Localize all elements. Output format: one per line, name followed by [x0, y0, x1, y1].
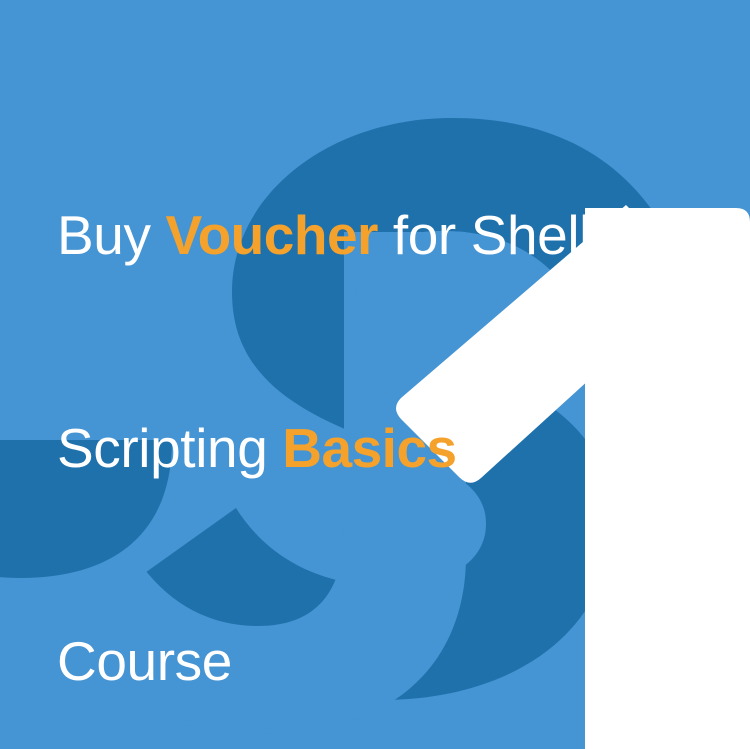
headline-line-1-accent: Voucher	[165, 204, 377, 266]
headline-line-1: Buy Voucher for Shelly	[57, 200, 717, 271]
headline-line-2-part-1: Scripting	[57, 417, 282, 479]
promo-banner: Buy Voucher for Shelly Scripting Basics …	[0, 0, 750, 749]
headline-line-1-part-1: Buy	[57, 204, 165, 266]
headline-line-2-accent: Basics	[282, 417, 456, 479]
headline-line-2: Scripting Basics	[57, 413, 717, 484]
headline-line-3-part-1: Course	[57, 630, 232, 692]
headline-line-3: Course	[57, 626, 717, 697]
page-title: Buy Voucher for Shelly Scripting Basics …	[57, 58, 717, 749]
headline-line-1-part-2: for Shelly	[378, 204, 618, 266]
